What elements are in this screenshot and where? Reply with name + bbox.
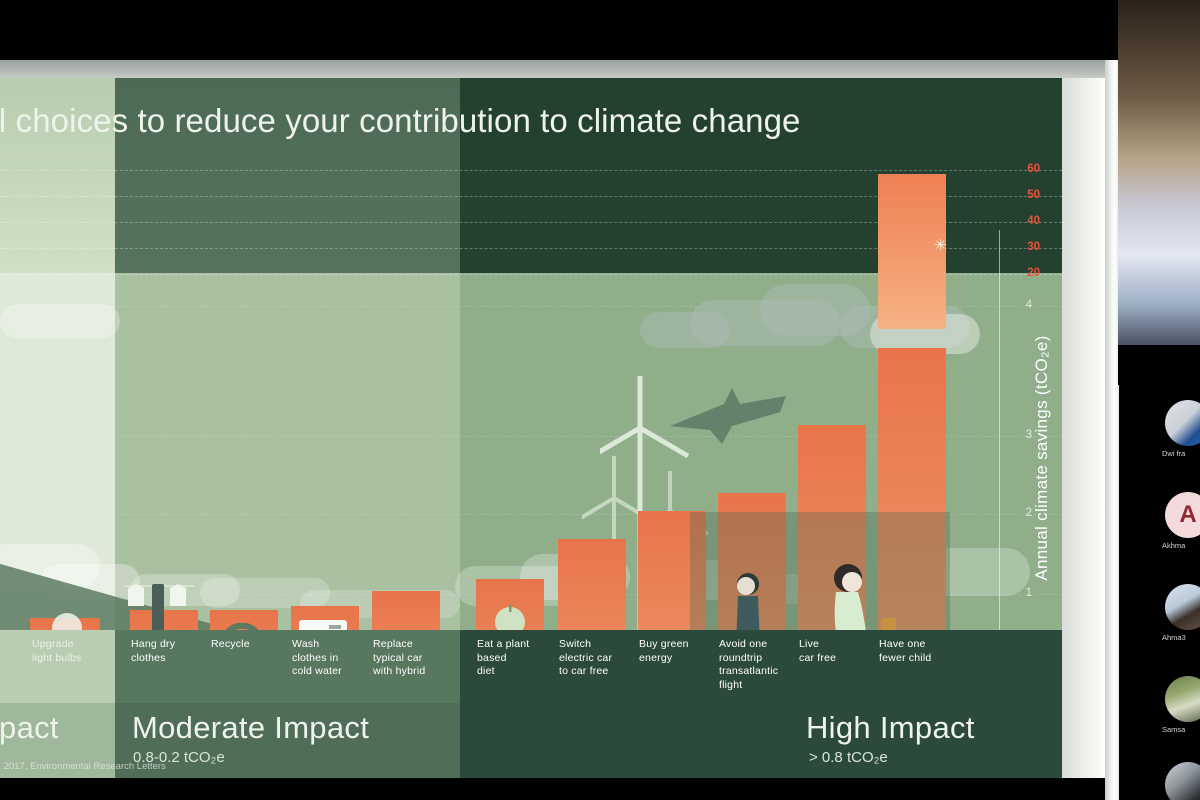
y-axis-title: Annual climate savings (tCO₂e) — [1032, 335, 1052, 580]
participant-item[interactable]: Samsa — [1160, 676, 1200, 734]
moon-icon — [814, 228, 866, 286]
y-tick-40: 40 — [1027, 215, 1040, 227]
participant-item[interactable]: Dwi fra — [1160, 400, 1200, 458]
x-label-recycle: Recycle — [211, 638, 289, 652]
participant-name: Akhma — [1160, 541, 1200, 550]
x-label-buy-green-energy: Buy green energy — [639, 638, 717, 665]
hang-dry-clothes-icon — [124, 578, 194, 638]
x-label-switch-ev-to-car-free: Switch electric car to car free — [559, 638, 639, 679]
participant-name: Samsa — [1160, 725, 1200, 734]
x-label-wash-clothes-cold-water: Wash clothes in cold water — [292, 638, 370, 679]
high-impact-subtitle: > 0.8 tCO₂e — [809, 749, 888, 766]
avatar[interactable] — [1165, 676, 1200, 722]
slide-title: nal choices to reduce your contribution … — [0, 102, 801, 140]
x-label-upgrade-light-bulbs: Upgrade light bulbs — [32, 638, 110, 665]
x-label-avoid-transatlantic-flight: Avoid one roundtrip transatlantic flight — [719, 638, 799, 692]
slide-right-margin — [1062, 78, 1105, 778]
x-label-have-one-fewer-child: Have one fewer child — [879, 638, 969, 665]
bottom-letterbox — [0, 778, 1105, 800]
avatar[interactable] — [1165, 762, 1200, 800]
presentation-slide: ✳ 60 50 40 30 20 4 3 2 1 Annual climate … — [0, 78, 1062, 778]
participant-item[interactable] — [1160, 762, 1200, 800]
cloud — [0, 304, 120, 338]
avatar[interactable] — [1165, 584, 1200, 630]
participant-name: Dwi fra — [1160, 449, 1200, 458]
airplane-icon — [662, 386, 792, 448]
x-axis-labels: Upgrade light bulbs Hang dry clothes Rec… — [0, 630, 1062, 703]
video-letterbox — [1118, 345, 1200, 385]
high-impact-title: High Impact — [806, 710, 975, 746]
x-label-hang-dry-clothes: Hang dry clothes — [131, 638, 209, 665]
cloud — [640, 312, 730, 348]
participant-name: Ahma3 — [1160, 633, 1200, 642]
avatar[interactable] — [1165, 400, 1200, 446]
gridline-60 — [0, 170, 1062, 171]
top-letterbox — [0, 0, 1105, 60]
y-axis-line — [999, 230, 1000, 688]
screen: ✳ 60 50 40 30 20 4 3 2 1 Annual climate … — [0, 0, 1200, 800]
x-label-plant-based-diet: Eat a plant based diet — [477, 638, 557, 679]
participant-item[interactable]: A Akhma — [1160, 492, 1200, 550]
avatar[interactable]: A — [1165, 492, 1200, 538]
active-speaker-video[interactable] — [1118, 0, 1200, 345]
low-impact-title: Impact — [0, 710, 59, 746]
x-label-replace-car-with-hybrid: Replace typical car with hybrid — [373, 638, 457, 679]
moderate-impact-title: Moderate Impact — [132, 710, 369, 746]
x-label-live-car-free: Live car free — [799, 638, 869, 665]
presentation-toolbar-strip — [0, 60, 1105, 78]
impact-footer: Impact Moderate Impact 0.8-0.2 tCO₂e Hig… — [0, 703, 1062, 778]
y-tick-50: 50 — [1027, 189, 1040, 201]
source-citation: Nicholas, 2017, Environmental Research L… — [0, 761, 166, 772]
rail-scrollbar[interactable] — [1105, 60, 1119, 800]
asterisk-note: ✳ — [934, 236, 947, 254]
y-axis-title-wrap: Annual climate savings (tCO₂e) — [1030, 243, 1054, 673]
participant-item[interactable]: Ahma3 — [1160, 584, 1200, 642]
y-tick-60: 60 — [1027, 163, 1040, 175]
